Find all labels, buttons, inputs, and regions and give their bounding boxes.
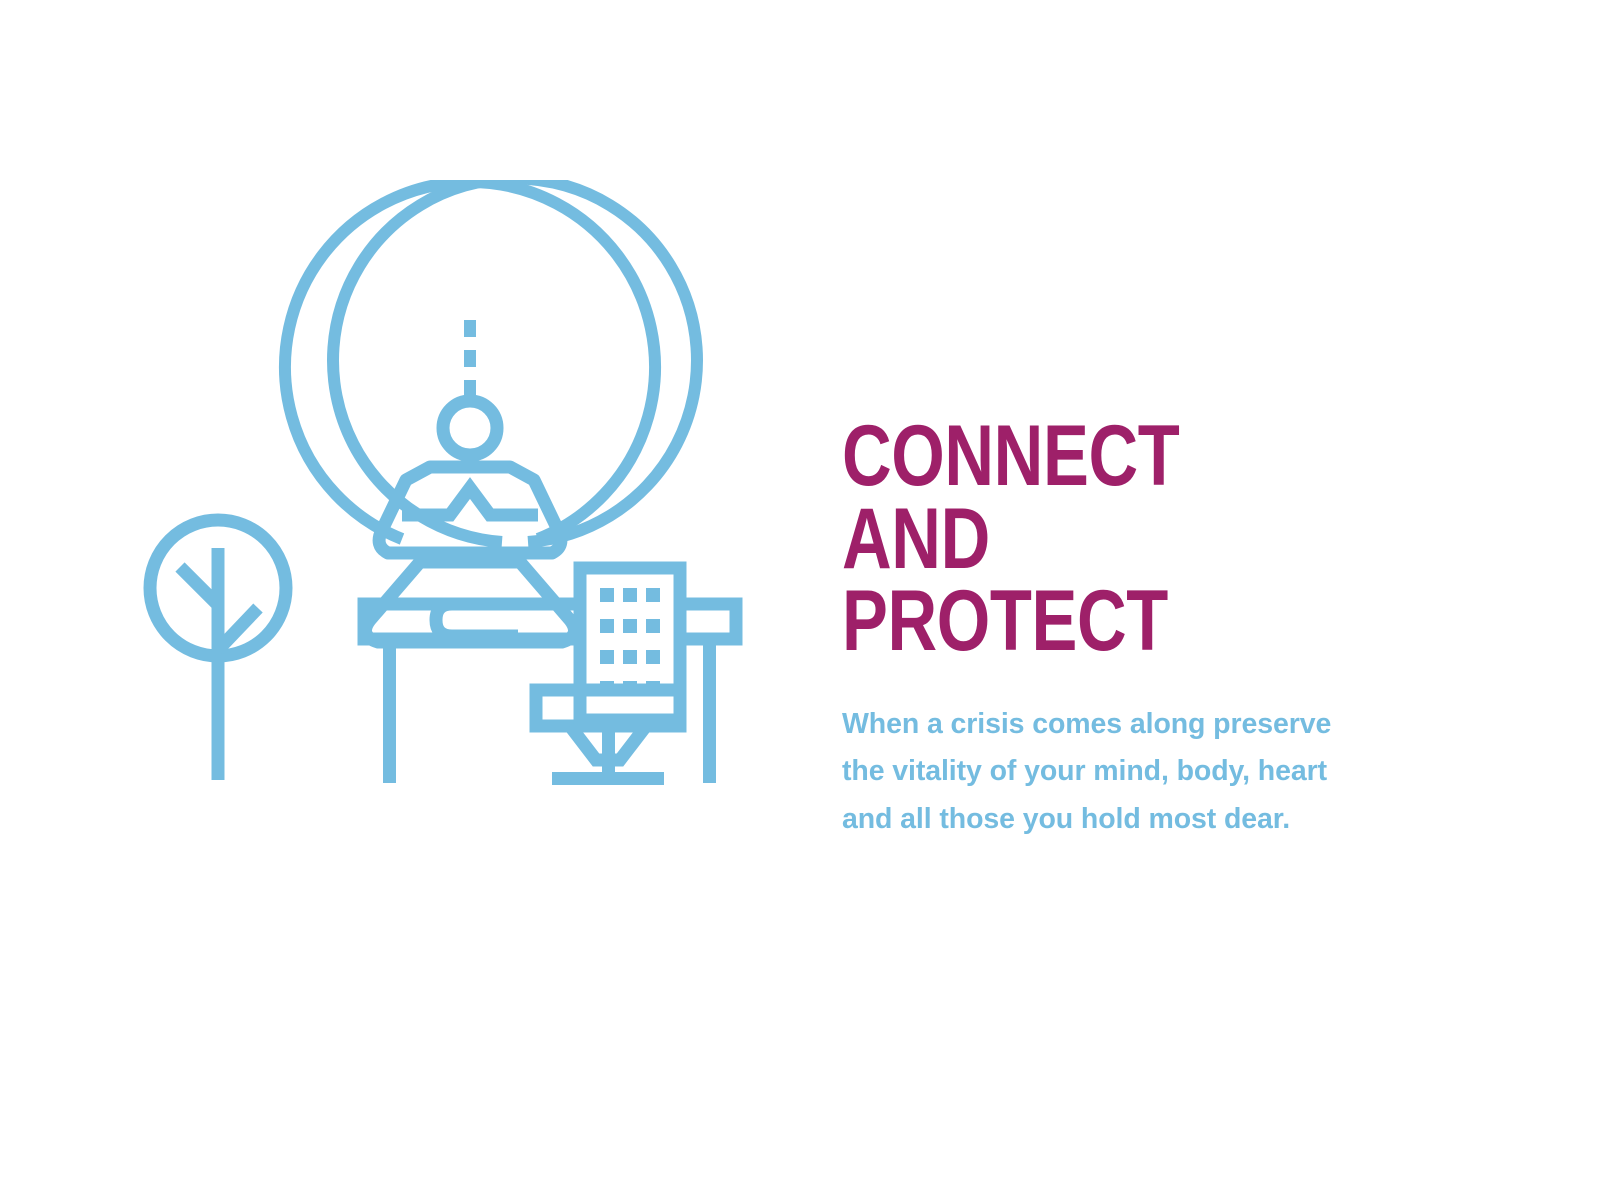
- text-block: CONNECT AND PROTECT When a crisis comes …: [842, 415, 1462, 843]
- illustration-svg: [130, 180, 770, 800]
- chair-dot: [600, 650, 614, 664]
- slide-canvas: CONNECT AND PROTECT When a crisis comes …: [0, 0, 1600, 1200]
- dash-1: [464, 320, 476, 337]
- subtitle-paragraph: When a crisis comes along preserve the v…: [842, 663, 1402, 844]
- desk-leg-left: [383, 635, 396, 783]
- dash-3: [464, 380, 476, 397]
- chair-dot: [600, 619, 614, 633]
- chair-dot: [623, 619, 637, 633]
- chair-dot: [646, 619, 660, 633]
- chair-dot: [600, 588, 614, 602]
- dash-2: [464, 350, 476, 367]
- desk-leg-right: [703, 635, 716, 783]
- chair-dot: [646, 588, 660, 602]
- chair-dot: [623, 588, 637, 602]
- chair-dot: [623, 650, 637, 664]
- person-head-icon: [443, 401, 497, 455]
- page-title: CONNECT AND PROTECT: [842, 415, 1338, 663]
- tree: [150, 520, 286, 780]
- chair-dot: [646, 650, 660, 664]
- chair-base: [552, 772, 664, 785]
- illustration: [130, 180, 770, 800]
- thought-dashes: [464, 320, 476, 397]
- halo-circle: [333, 180, 697, 542]
- person-hands-heart-icon: [402, 488, 538, 515]
- chair-post: [602, 732, 615, 778]
